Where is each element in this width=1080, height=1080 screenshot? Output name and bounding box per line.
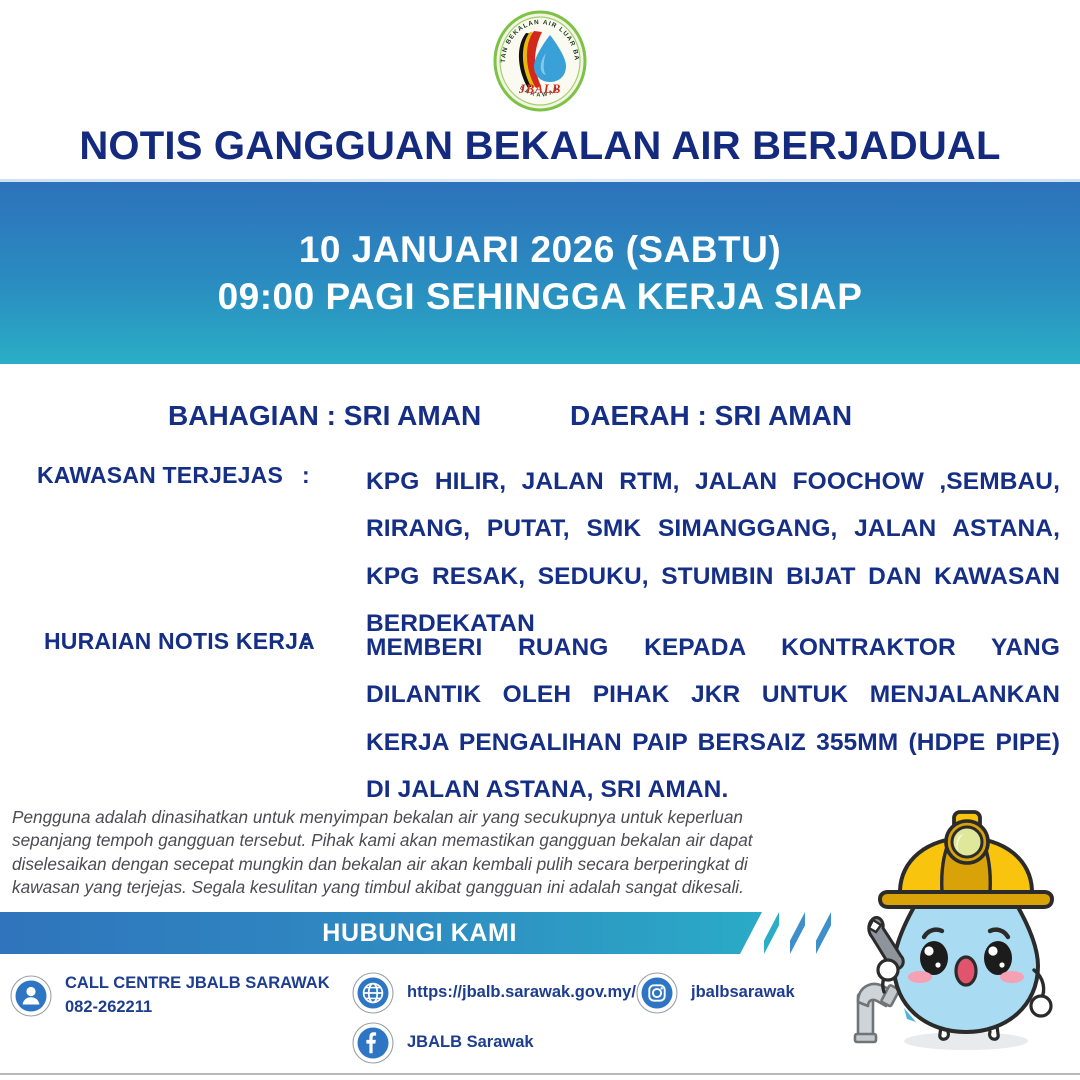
decor-stripe-2 — [790, 912, 805, 954]
decor-stripe-3 — [816, 912, 831, 954]
notice-poster: JABATAN BEKALAN AIR LUAR BANDAR SARAWAK … — [0, 0, 1080, 1080]
contact-instagram[interactable]: jbalbsarawak — [636, 972, 795, 1014]
page-title: NOTIS GANGGUAN BEKALAN AIR BERJADUAL — [0, 124, 1080, 169]
region-row: BAHAGIAN : SRI AMAN DAERAH : SRI AMAN — [0, 400, 1080, 440]
disclaimer-text: Pengguna adalah dinasihatkan untuk menyi… — [12, 806, 802, 900]
facebook-handle: JBALB Sarawak — [407, 1031, 534, 1055]
decor-stripe-1 — [764, 912, 779, 954]
person-icon — [10, 975, 52, 1017]
pipe — [855, 984, 900, 1042]
contact-call-centre[interactable]: CALL CENTRE JBALB SARAWAK 082-262211 — [10, 972, 330, 1020]
daerah-label: DAERAH : SRI AMAN — [570, 400, 852, 432]
contact-website[interactable]: https://jbalb.sarawak.gov.my/ — [352, 972, 636, 1014]
svg-text:JBALB: JBALB — [518, 82, 561, 96]
mascot-icon — [838, 798, 1078, 1066]
contact-bar-title: HUBUNGI KAMI — [322, 919, 517, 948]
work-description-colon: : — [302, 628, 310, 655]
affected-areas-colon: : — [302, 462, 310, 489]
affected-areas-value: KPG HILIR, JALAN RTM, JALAN FOOCHOW ,SEM… — [366, 458, 1060, 647]
facebook-icon — [352, 1022, 394, 1064]
instagram-handle: jbalbsarawak — [691, 981, 795, 1005]
instagram-icon — [636, 972, 678, 1014]
jbalb-logo: JABATAN BEKALAN AIR LUAR BANDAR SARAWAK … — [0, 8, 1080, 113]
banner-date: 10 JANUARI 2026 (SABTU) — [299, 226, 781, 273]
hard-hat — [880, 812, 1052, 907]
globe-icon — [352, 972, 394, 1014]
website-url: https://jbalb.sarawak.gov.my/ — [407, 981, 636, 1005]
bahagian-label: BAHAGIAN : SRI AMAN — [168, 400, 481, 432]
call-centre-name: CALL CENTRE JBALB SARAWAK — [65, 974, 330, 992]
jbalb-logo-icon: JABATAN BEKALAN AIR LUAR BANDAR SARAWAK … — [488, 9, 592, 113]
water-droplet-mascot — [838, 798, 1078, 1066]
affected-areas-label: KAWASAN TERJEJAS — [37, 462, 283, 489]
contact-bar: HUBUNGI KAMI — [0, 912, 762, 954]
work-description-value: MEMBERI RUANG KEPADA KONTRAKTOR YANG DIL… — [366, 624, 1060, 813]
work-description-label: HURAIAN NOTIS KERJA — [44, 628, 315, 655]
call-centre-text: CALL CENTRE JBALB SARAWAK 082-262211 — [65, 972, 330, 1020]
contact-facebook[interactable]: JBALB Sarawak — [352, 1022, 534, 1064]
call-centre-phone: 082-262211 — [65, 996, 330, 1020]
banner-time: 09:00 PAGI SEHINGGA KERJA SIAP — [218, 273, 863, 320]
date-time-banner: 10 JANUARI 2026 (SABTU) 09:00 PAGI SEHIN… — [0, 182, 1080, 364]
bottom-divider — [0, 1073, 1080, 1075]
